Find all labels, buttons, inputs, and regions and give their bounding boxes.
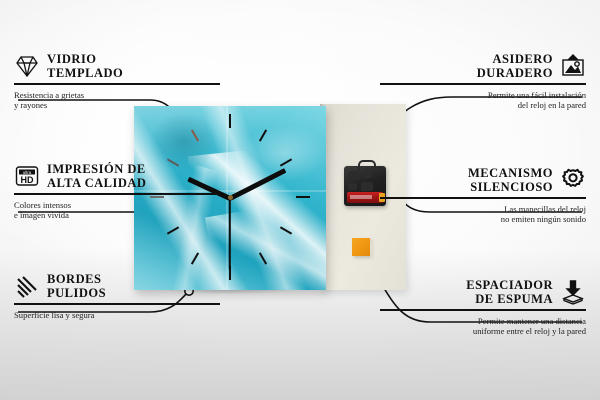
- callout-rule: [14, 193, 220, 195]
- clock-tick-1: [259, 129, 267, 141]
- callout-title-line1: BORDES: [47, 272, 220, 286]
- callout-rule: [14, 303, 220, 305]
- callout-desc-line2: y rayones: [14, 100, 220, 111]
- callout-title-line2: PULIDOS: [47, 286, 220, 300]
- callout-title-line1: ESPACIADOR: [380, 278, 553, 292]
- callout-vidrio-templado: VIDRIO TEMPLADO Resistencia a grietas y …: [14, 52, 220, 111]
- callout-asidero-duradero: ASIDERO DURADERO Permite una fácil insta…: [380, 52, 586, 111]
- callout-desc-line1: Colores intensos: [14, 200, 220, 211]
- diamond-icon: [14, 53, 40, 79]
- callout-impresion-alta-calidad: ultra HD IMPRESIÓN DE ALTA CALIDAD Color…: [14, 162, 220, 221]
- callout-title-line1: MECANISMO: [380, 166, 553, 180]
- clock-tick-3: [296, 196, 310, 198]
- clock-tick-12: [229, 114, 231, 128]
- callout-title-line1: VIDRIO: [47, 52, 220, 66]
- callout-rule: [380, 83, 586, 85]
- clock-tick-5: [259, 252, 267, 264]
- callout-desc-line1: Permite una fácil instalación: [380, 90, 586, 101]
- callout-desc-line2: del reloj en la pared: [380, 100, 586, 111]
- callout-desc-line2: e imagen vívida: [14, 210, 220, 221]
- mechanism-hanger-lug: [358, 160, 376, 170]
- callout-title-line1: IMPRESIÓN DE: [47, 162, 220, 176]
- clock-center-cap: [228, 195, 233, 200]
- foam-spacer-icon: [560, 279, 586, 305]
- callout-desc-line1: Permite mantener una distancia: [380, 316, 586, 327]
- clock-minute-hand: [229, 168, 287, 201]
- callout-title-line2: ALTA CALIDAD: [47, 176, 220, 190]
- polished-edges-icon: [14, 273, 40, 299]
- callout-title-line2: DURADERO: [380, 66, 553, 80]
- callout-title-line1: ASIDERO: [380, 52, 553, 66]
- callout-desc-line1: Las manecillas del reloj: [380, 204, 586, 215]
- callout-rule: [14, 83, 220, 85]
- callout-rule: [380, 197, 586, 199]
- callout-desc-line1: Superficie lisa y segura: [14, 310, 220, 321]
- gear-icon: [560, 167, 586, 193]
- callout-title-line2: DE ESPUMA: [380, 292, 553, 306]
- callout-espaciador-de-espuma: ESPACIADOR DE ESPUMA Permite mantener un…: [380, 278, 586, 337]
- callout-title-line2: SILENCIOSO: [380, 180, 553, 194]
- callout-desc-line2: no emiten ningún sonido: [380, 214, 586, 225]
- callout-bordes-pulidos: BORDES PULIDOS Superficie lisa y segura: [14, 272, 220, 320]
- callout-desc-line2: uniforme entre el reloj y la pared: [380, 326, 586, 337]
- callout-mecanismo-silencioso: MECANISMO SILENCIOSO Las manecillas del …: [380, 166, 586, 225]
- clock-tick-11: [191, 129, 199, 141]
- clock-second-hand: [229, 198, 231, 270]
- foam-spacer: [352, 238, 370, 256]
- clock-tick-2: [280, 158, 292, 166]
- clock-tick-4: [280, 226, 292, 234]
- callout-desc-line1: Resistencia a grietas: [14, 90, 220, 101]
- clock-tick-7: [191, 252, 199, 264]
- callout-rule: [380, 309, 586, 311]
- callout-title-line2: TEMPLADO: [47, 66, 220, 80]
- clock-battery: [347, 192, 383, 203]
- infographic-canvas: VIDRIO TEMPLADO Resistencia a grietas y …: [0, 0, 600, 400]
- ultra-hd-icon: ultra HD: [14, 163, 40, 189]
- clock-tick-8: [167, 226, 179, 234]
- picture-hanger-icon: [560, 53, 586, 79]
- ultra-hd-icon-bottom-label: HD: [21, 175, 34, 185]
